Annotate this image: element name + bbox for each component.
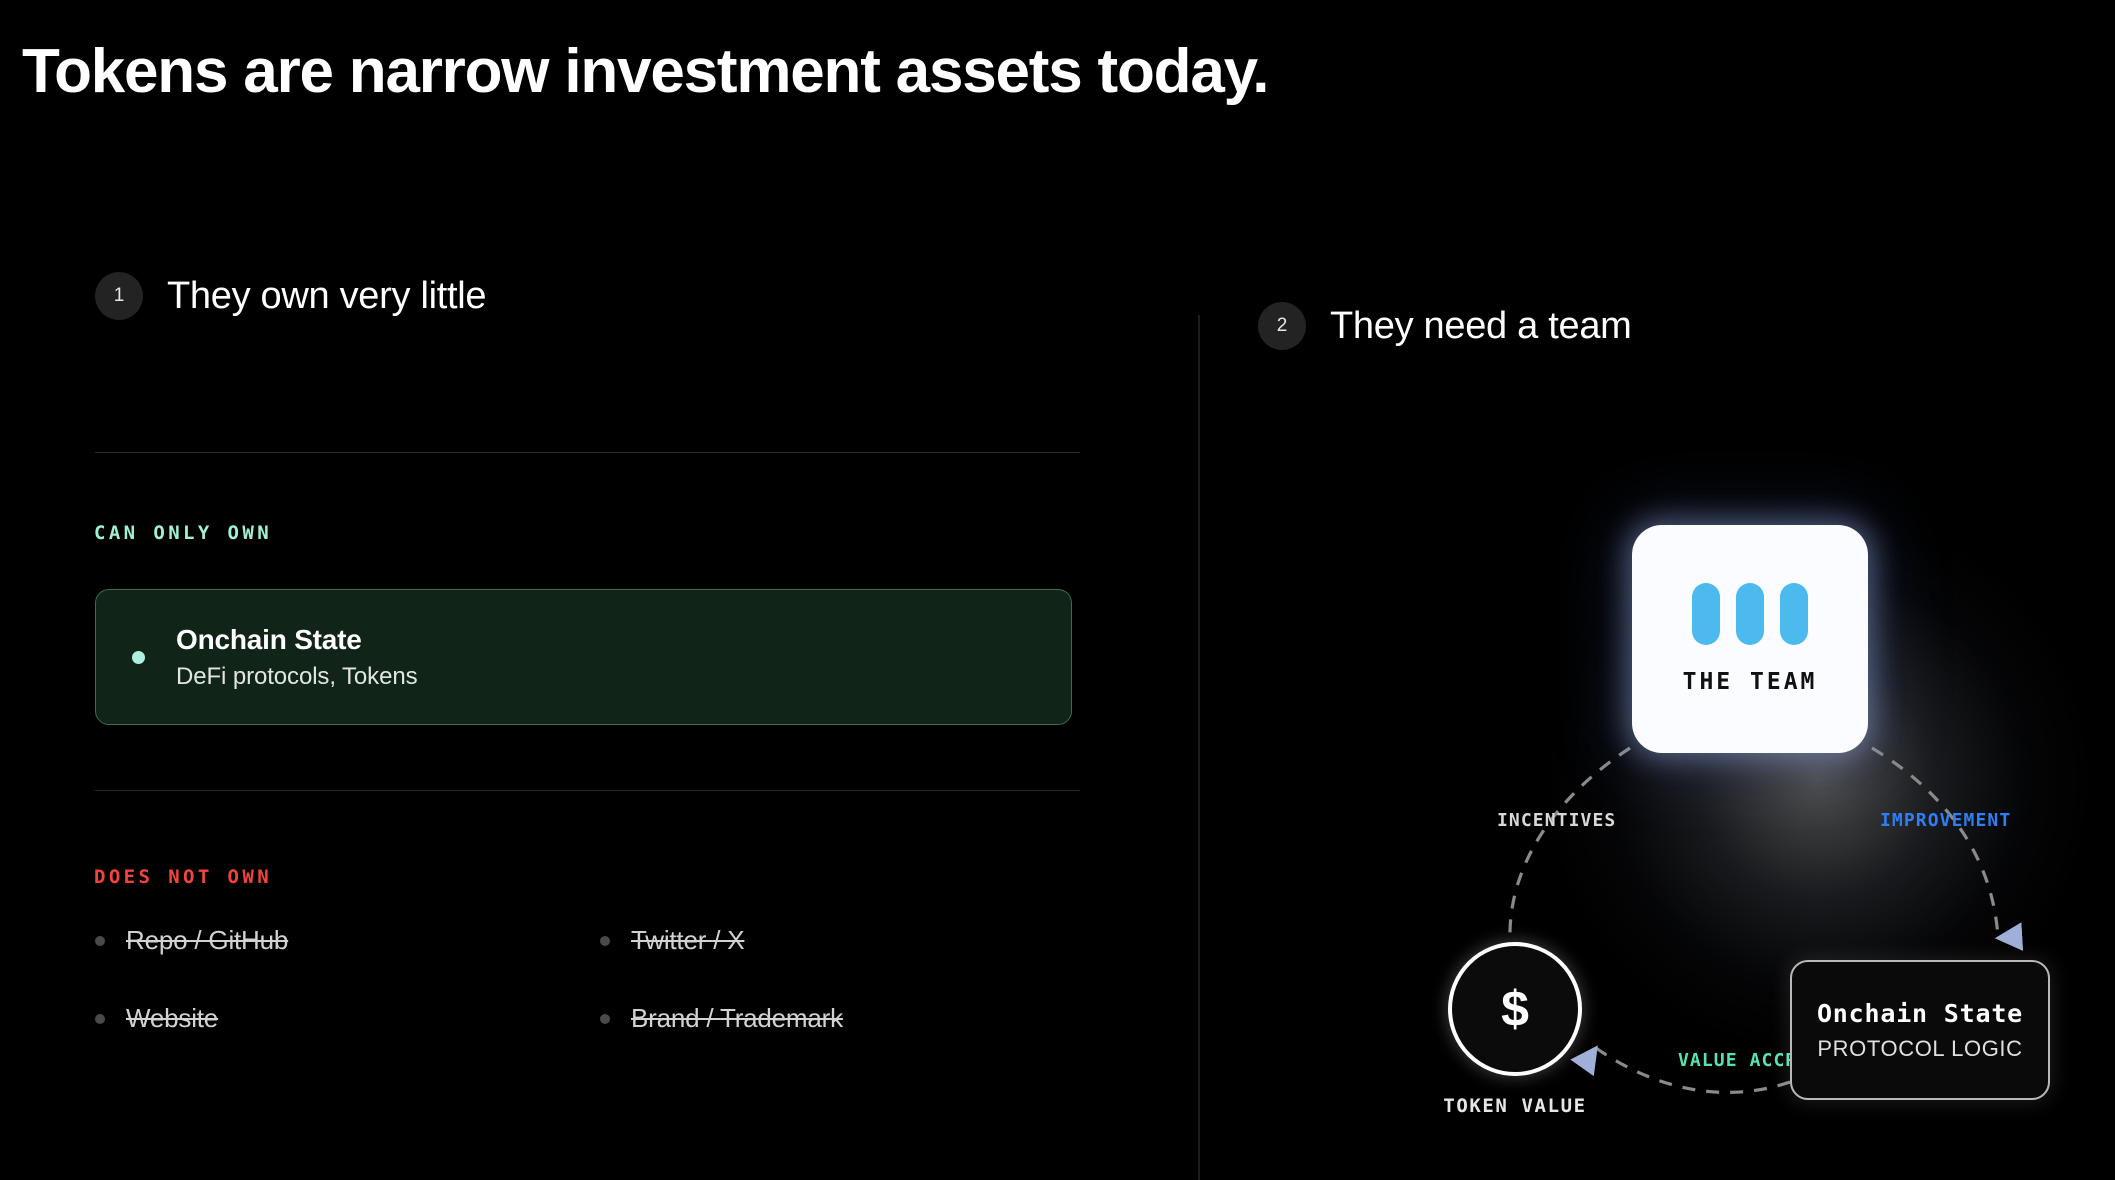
- edge-label-improvement: IMPROVEMENT: [1880, 810, 2011, 831]
- team-pill-icon: [1736, 583, 1764, 645]
- list-item-label: Repo / GitHub: [126, 925, 288, 956]
- onchain-state-node: Onchain State PROTOCOL LOGIC: [1790, 960, 2050, 1100]
- list-item-label: Brand / Trademark: [631, 1003, 843, 1034]
- team-node: THE TEAM: [1632, 525, 1868, 753]
- bullet-dot-icon: [132, 651, 145, 664]
- list-item-label: Website: [126, 1003, 218, 1034]
- team-value-loop-diagram: THE TEAM $ TOKEN VALUE Onchain State PRO…: [1390, 470, 2110, 1160]
- can-only-own-label: CAN ONLY OWN: [94, 522, 272, 544]
- does-not-own-list: Repo / GitHub Twitter / X Website Brand …: [95, 925, 1080, 1034]
- divider-bottom: [95, 790, 1080, 791]
- owned-asset-text: Onchain State DeFi protocols, Tokens: [176, 622, 417, 693]
- list-item: Repo / GitHub: [95, 925, 600, 956]
- token-value-caption: TOKEN VALUE: [1410, 1095, 1620, 1117]
- team-people-icon: [1692, 583, 1808, 645]
- page-title: Tokens are narrow investment assets toda…: [22, 36, 1268, 107]
- edge-improvement: [1872, 748, 1998, 938]
- step-number-badge-1: 1: [95, 272, 143, 320]
- onchain-state-subtitle: PROTOCOL LOGIC: [1817, 1036, 2022, 1062]
- divider-top: [95, 452, 1080, 453]
- list-item: Brand / Trademark: [600, 1003, 1080, 1034]
- edge-label-incentives: INCENTIVES: [1497, 810, 1616, 831]
- bullet-dot-icon: [600, 936, 610, 946]
- list-item: Website: [95, 1003, 600, 1034]
- bullet-dot-icon: [600, 1014, 610, 1024]
- onchain-state-title: Onchain State: [1817, 999, 2023, 1028]
- right-column: 2 They need a team: [1258, 302, 2088, 350]
- edge-label-value-accrual: VALUE ACCR: [1678, 1050, 1797, 1071]
- dollar-icon: $: [1501, 984, 1529, 1034]
- column-divider: [1198, 315, 1200, 1180]
- owned-asset-title: Onchain State: [176, 622, 417, 658]
- team-node-label: THE TEAM: [1683, 669, 1818, 695]
- right-column-heading: 2 They need a team: [1258, 302, 2088, 350]
- left-column: 1 They own very little: [95, 272, 1080, 320]
- team-pill-icon: [1692, 583, 1720, 645]
- step-number-badge-2: 2: [1258, 302, 1306, 350]
- owned-asset-subtitle: DeFi protocols, Tokens: [176, 662, 417, 693]
- right-column-heading-text: They need a team: [1330, 305, 1632, 348]
- list-item: Twitter / X: [600, 925, 1080, 956]
- left-column-heading: 1 They own very little: [95, 272, 1080, 320]
- left-column-heading-text: They own very little: [167, 275, 486, 318]
- edge-incentives: [1510, 748, 1630, 940]
- bullet-dot-icon: [95, 936, 105, 946]
- does-not-own-label: DOES NOT OWN: [94, 866, 272, 888]
- owned-asset-card[interactable]: Onchain State DeFi protocols, Tokens: [95, 589, 1072, 725]
- list-item-label: Twitter / X: [631, 925, 744, 956]
- bullet-dot-icon: [95, 1014, 105, 1024]
- team-pill-icon: [1780, 583, 1808, 645]
- token-value-node: $: [1448, 942, 1582, 1076]
